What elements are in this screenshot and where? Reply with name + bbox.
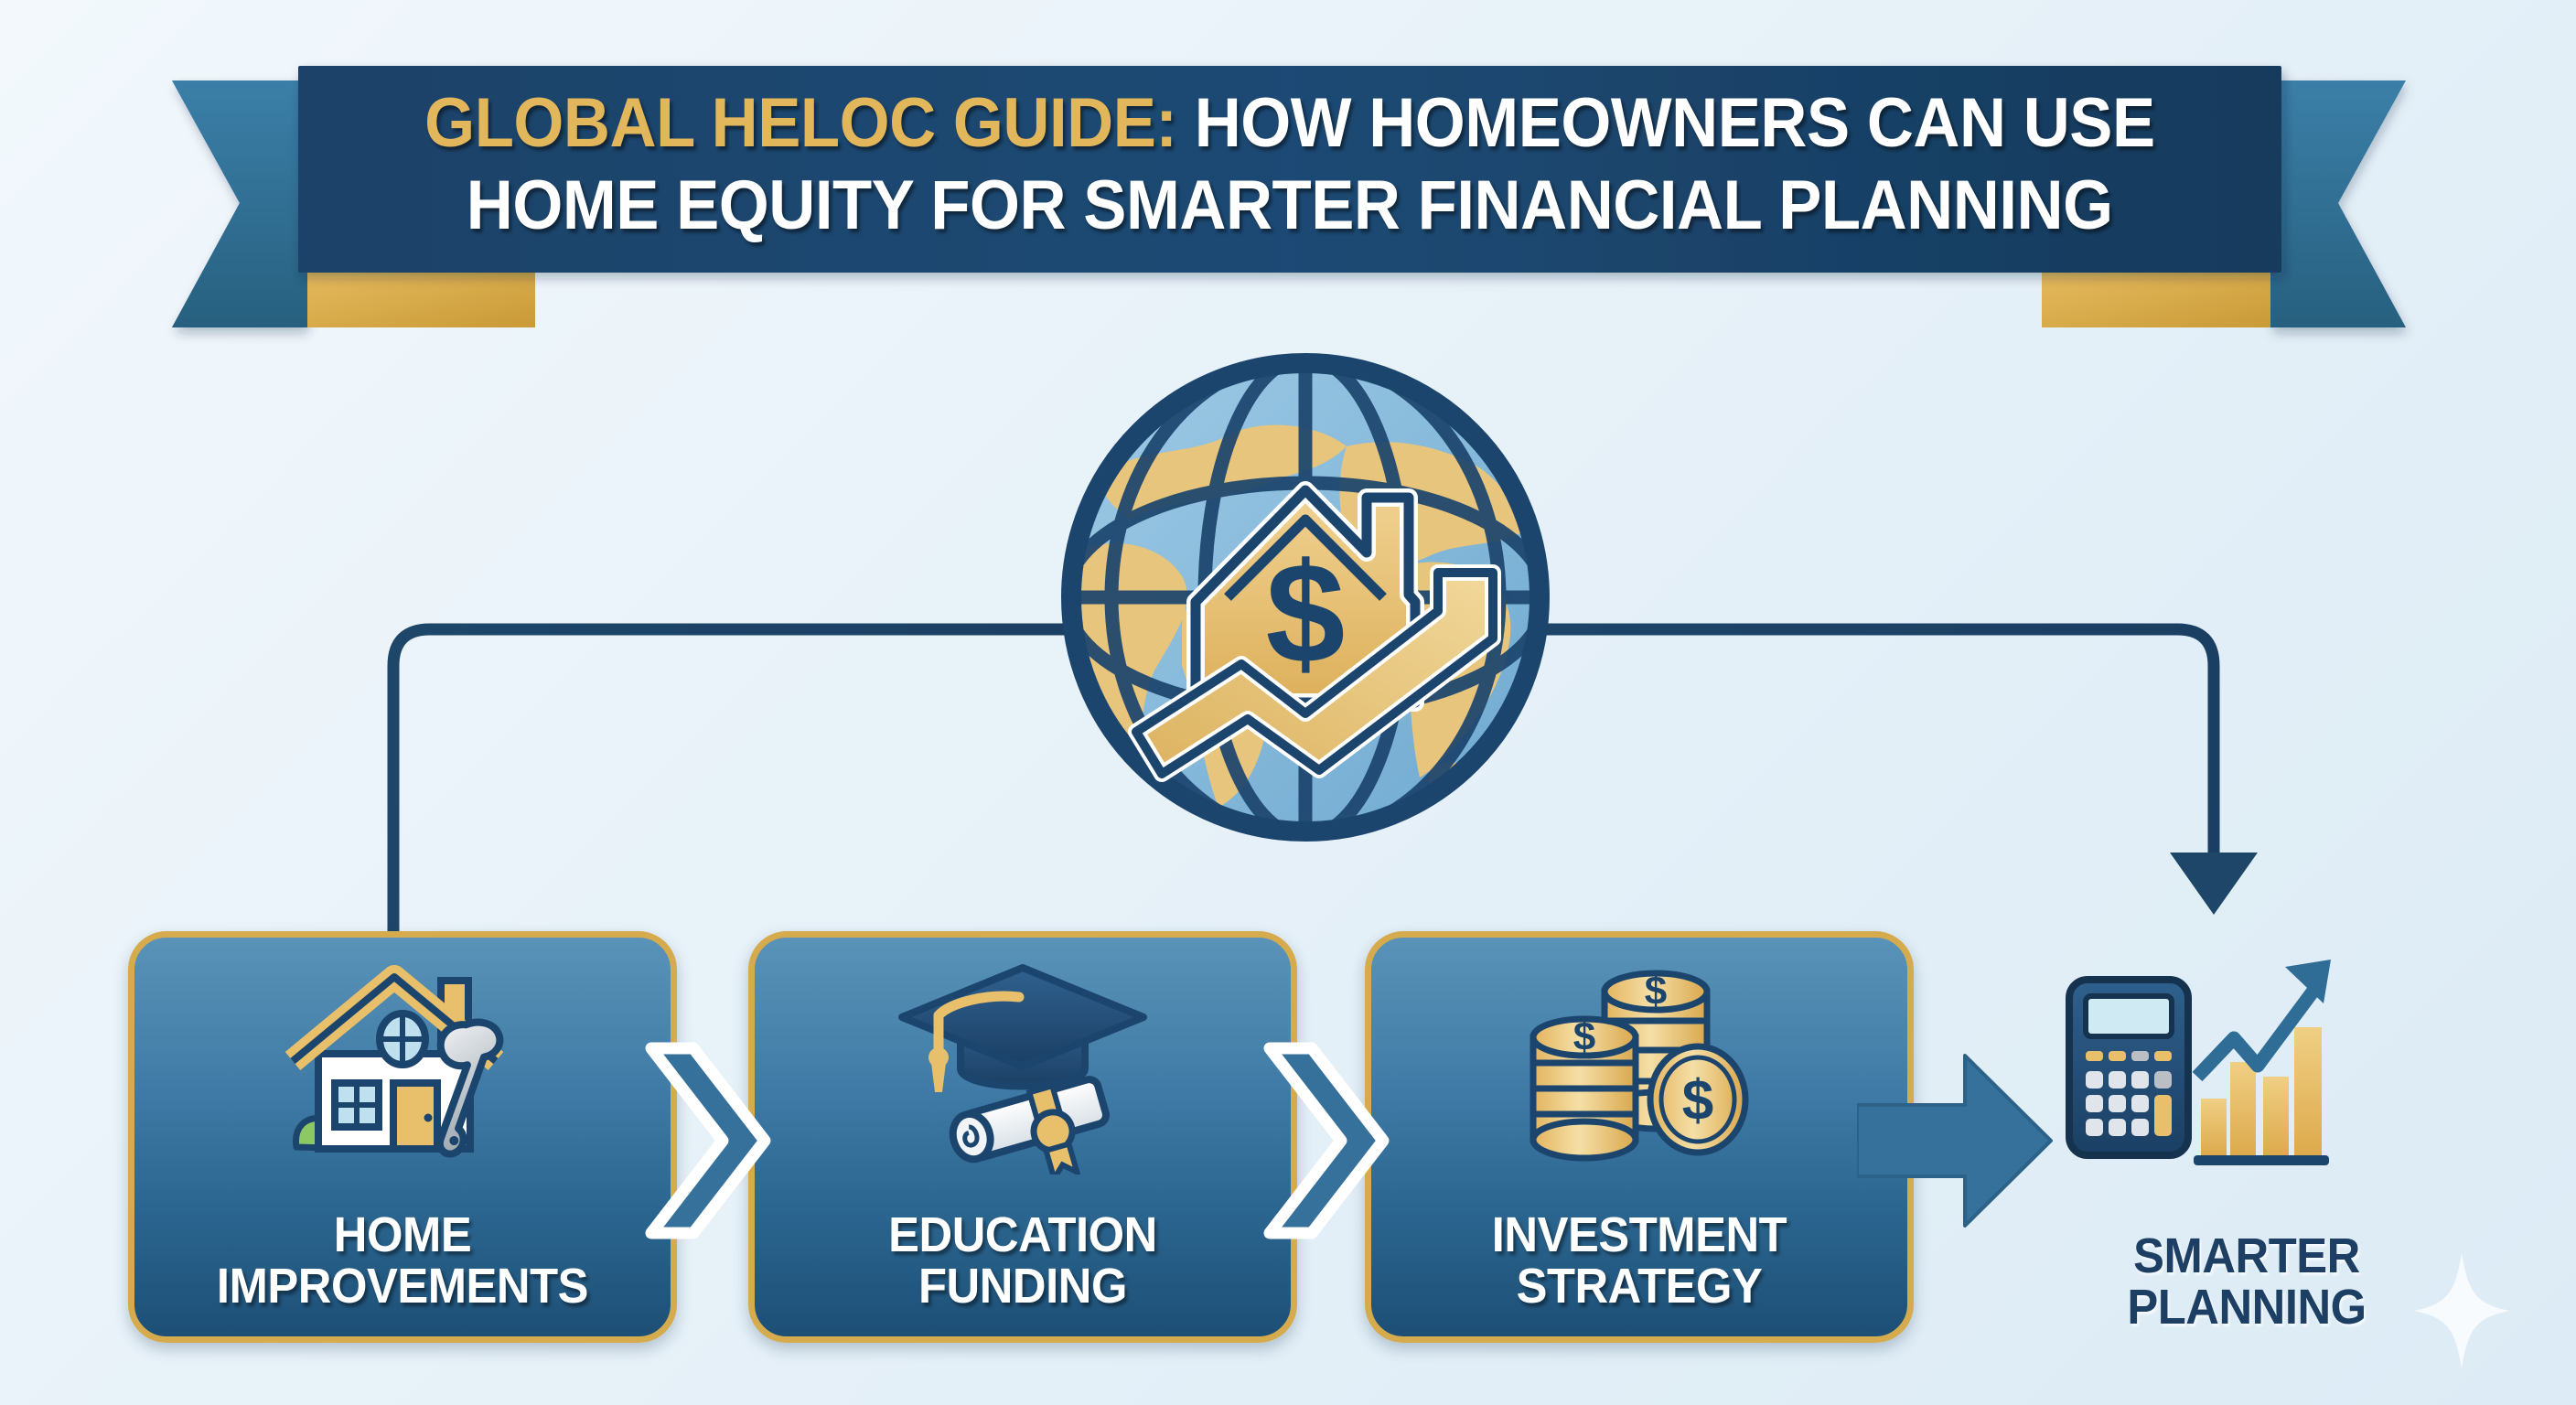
svg-text:$: $	[1266, 534, 1346, 693]
single-coin: $	[1650, 1046, 1745, 1153]
ribbon-gold-tab-right	[2042, 271, 2280, 327]
flow-step-label-line1: EDUCATION	[771, 1209, 1275, 1261]
diploma-icon	[947, 1074, 1120, 1174]
chevron-right-arrow-icon	[615, 1035, 825, 1246]
connector-right-arrowhead	[2170, 853, 2258, 915]
banner-plaque	[298, 66, 2281, 273]
title-banner: GLOBAL HELOC GUIDE: HOW HOMEOWNERS CAN U…	[0, 0, 2576, 366]
graduation-cap-diploma-icon	[755, 950, 1291, 1179]
flow-arrow-2	[1233, 1035, 1444, 1246]
flow-step-label-line2: FUNDING	[771, 1260, 1275, 1313]
hero-icon: $	[1045, 337, 1566, 858]
dollar-sign: $	[1266, 534, 1346, 693]
banner-ribbon-shape	[0, 0, 2576, 366]
infographic-canvas: GLOBAL HELOC GUIDE: HOW HOMEOWNERS CAN U…	[0, 0, 2576, 1405]
flow-step-label-line2: IMPROVEMENTS	[151, 1260, 655, 1313]
flow-step-label: INVESTMENT STRATEGY	[1388, 1209, 1892, 1313]
chevron-right-arrow-icon	[1233, 1035, 1444, 1246]
coin-stack-front: $	[1533, 1014, 1636, 1158]
bar-chart-icon	[2194, 1027, 2329, 1165]
right-arrow-icon	[1857, 1035, 2067, 1246]
flow-step-card-education-funding[interactable]: EDUCATION FUNDING	[748, 931, 1297, 1343]
flow-step-card-investment-strategy[interactable]: $ $	[1365, 931, 1914, 1343]
house-wrench-icon	[134, 950, 671, 1179]
coin-stacks-icon: $ $	[1371, 950, 1907, 1179]
flow-arrow-3	[1857, 1035, 2067, 1246]
flow-arrow-1	[615, 1035, 825, 1246]
globe-house-dollar-growth-icon: $	[1045, 337, 1566, 858]
calculator-bar-chart-growth-icon	[1991, 949, 2503, 1183]
calculator-icon	[2069, 980, 2188, 1155]
flow-step-label: EDUCATION FUNDING	[771, 1209, 1275, 1313]
flow-step-label-line1: INVESTMENT	[1388, 1209, 1892, 1261]
svg-text:$: $	[1573, 1014, 1595, 1059]
svg-text:$: $	[1645, 969, 1667, 1014]
sparkle-decoration	[2411, 1251, 2512, 1370]
flow-step-label-line2: STRATEGY	[1388, 1260, 1892, 1313]
sparkle-icon	[2411, 1251, 2512, 1370]
flow-step-label: HOME IMPROVEMENTS	[151, 1209, 655, 1313]
ribbon-gold-tab-left	[297, 271, 535, 327]
flow-step-label-line1: HOME	[151, 1209, 655, 1261]
svg-text:$: $	[1682, 1069, 1713, 1132]
flow-step-card-home-improvements[interactable]: HOME IMPROVEMENTS	[128, 931, 677, 1343]
